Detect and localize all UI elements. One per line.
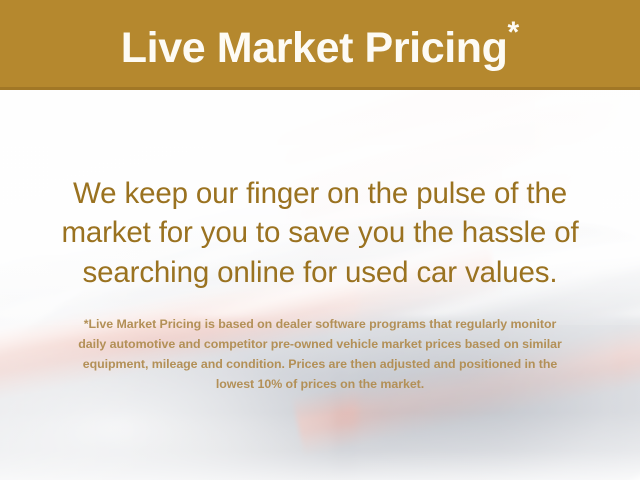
disclaimer-line-3: equipment, mileage and condition. Prices… [22, 354, 618, 374]
header-banner: Live Market Pricing* [0, 0, 640, 90]
live-market-pricing-slide: Live Market Pricing* We keep our finger … [0, 0, 640, 480]
content-area: We keep our finger on the pulse of the m… [0, 90, 640, 480]
disclaimer-line-2: daily automotive and competitor pre-owne… [22, 334, 618, 354]
page-title: Live Market Pricing* [121, 18, 519, 73]
page-title-text: Live Market Pricing [121, 24, 508, 72]
headline-text: We keep our finger on the pulse of the m… [24, 174, 616, 292]
footnote-asterisk: * [508, 16, 520, 49]
disclaimer-text: *Live Market Pricing is based on dealer … [22, 314, 618, 394]
headline-line-1: We keep our finger on the pulse of the [24, 174, 616, 213]
disclaimer-line-1: *Live Market Pricing is based on dealer … [22, 314, 618, 334]
headline-line-2: market for you to save you the hassle of [24, 213, 616, 252]
headline-line-3: searching online for used car values. [24, 253, 616, 292]
disclaimer-line-4: lowest 10% of prices on the market. [22, 374, 618, 394]
